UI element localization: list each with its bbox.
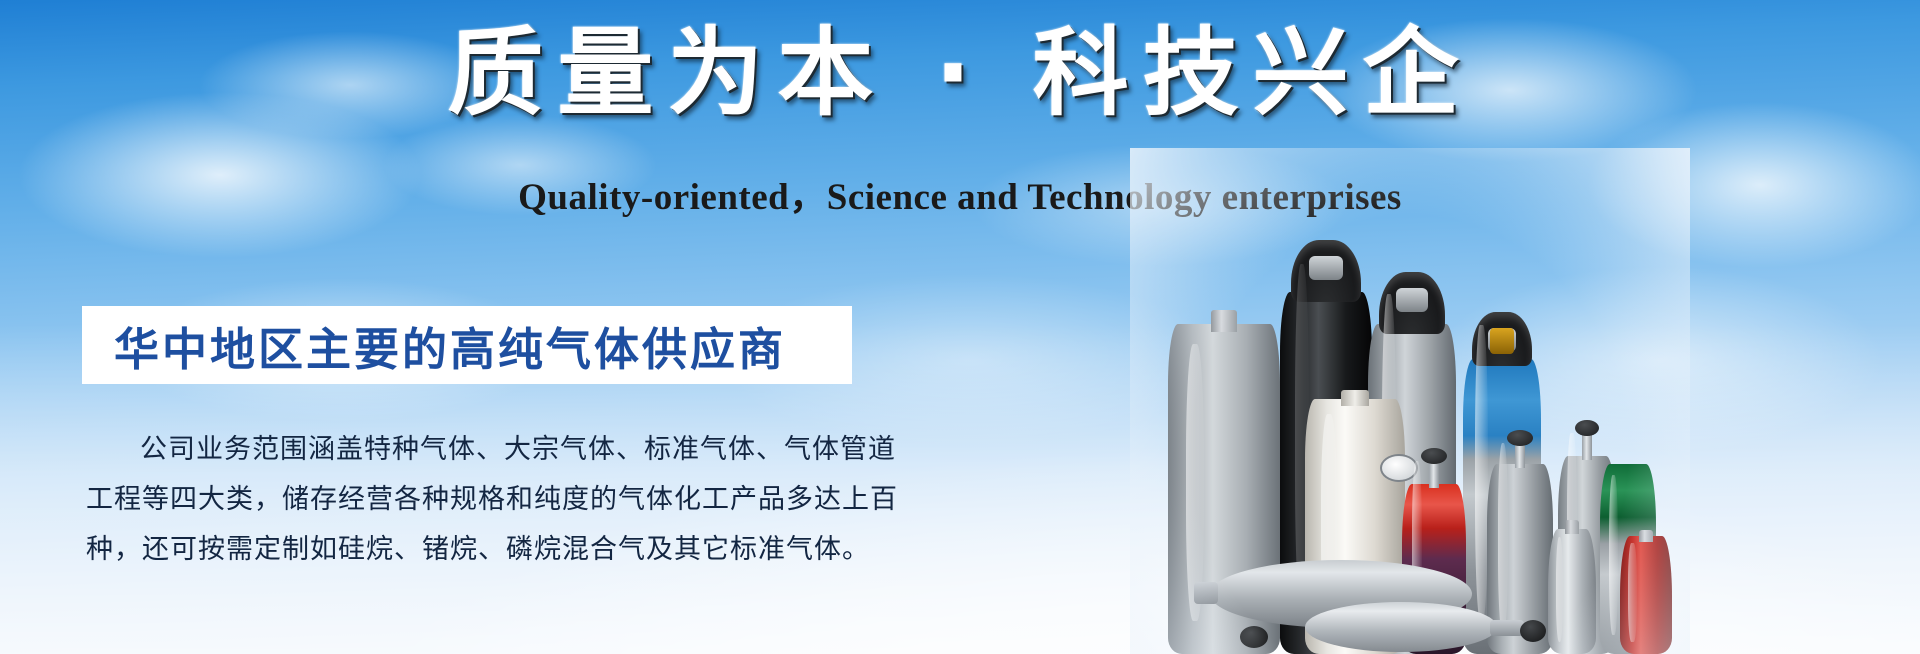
description-line-1: 公司业务范围涵盖特种气体、大宗气体、标准气体、气体管道 [86,425,876,475]
cylinder-neck [1341,390,1369,406]
tagline-box: 华中地区主要的高纯气体供应商 [82,306,852,384]
cylinder-neck [1639,530,1654,542]
red-cylinder [1620,536,1672,654]
cylinder-valve-guard [1379,272,1446,334]
cylinder-valve-knob [1421,448,1447,464]
tank-end-cap [1194,582,1218,604]
gas-cylinders-photo [1150,160,1670,654]
tagline-text: 华中地区主要的高纯气体供应商 [114,313,786,378]
cylinder-valve-knob [1507,430,1533,446]
description-paragraph: 公司业务范围涵盖特种气体、大宗气体、标准气体、气体管道 工程等四大类，储存经营各… [86,425,876,575]
tank-valve-knob [1520,620,1546,642]
horizontal-tank-small [1305,602,1497,652]
cylinder-neck [1565,520,1578,534]
tank-end-cap [1490,620,1524,636]
gas-company-banner: 质量为本 · 科技兴企 Quality-oriented，Science and… [0,0,1920,654]
tank-valve-knob [1240,626,1268,648]
description-line-2: 工程等四大类，储存经营各种规格和纯度的气体化工产品多达上百 [86,475,876,525]
brass-valve-icon [1490,328,1515,354]
description-line-3: 种，还可按需定制如硅烷、锗烷、磷烷混合气及其它标准气体。 [86,525,876,575]
cylinder-body [1548,529,1596,654]
cylinder-body [1620,536,1672,654]
aluminium-cylinder [1548,529,1596,654]
cylinder-valve-stem [1429,462,1439,488]
cylinder-valve-stem [1582,434,1591,460]
pressure-gauge-icon [1380,454,1418,482]
cylinder-valve-guard [1291,240,1361,302]
cylinder-valve-knob [1575,420,1598,436]
cylinder-neck [1211,310,1238,332]
banner-headline: 质量为本 · 科技兴企 [0,22,1920,126]
